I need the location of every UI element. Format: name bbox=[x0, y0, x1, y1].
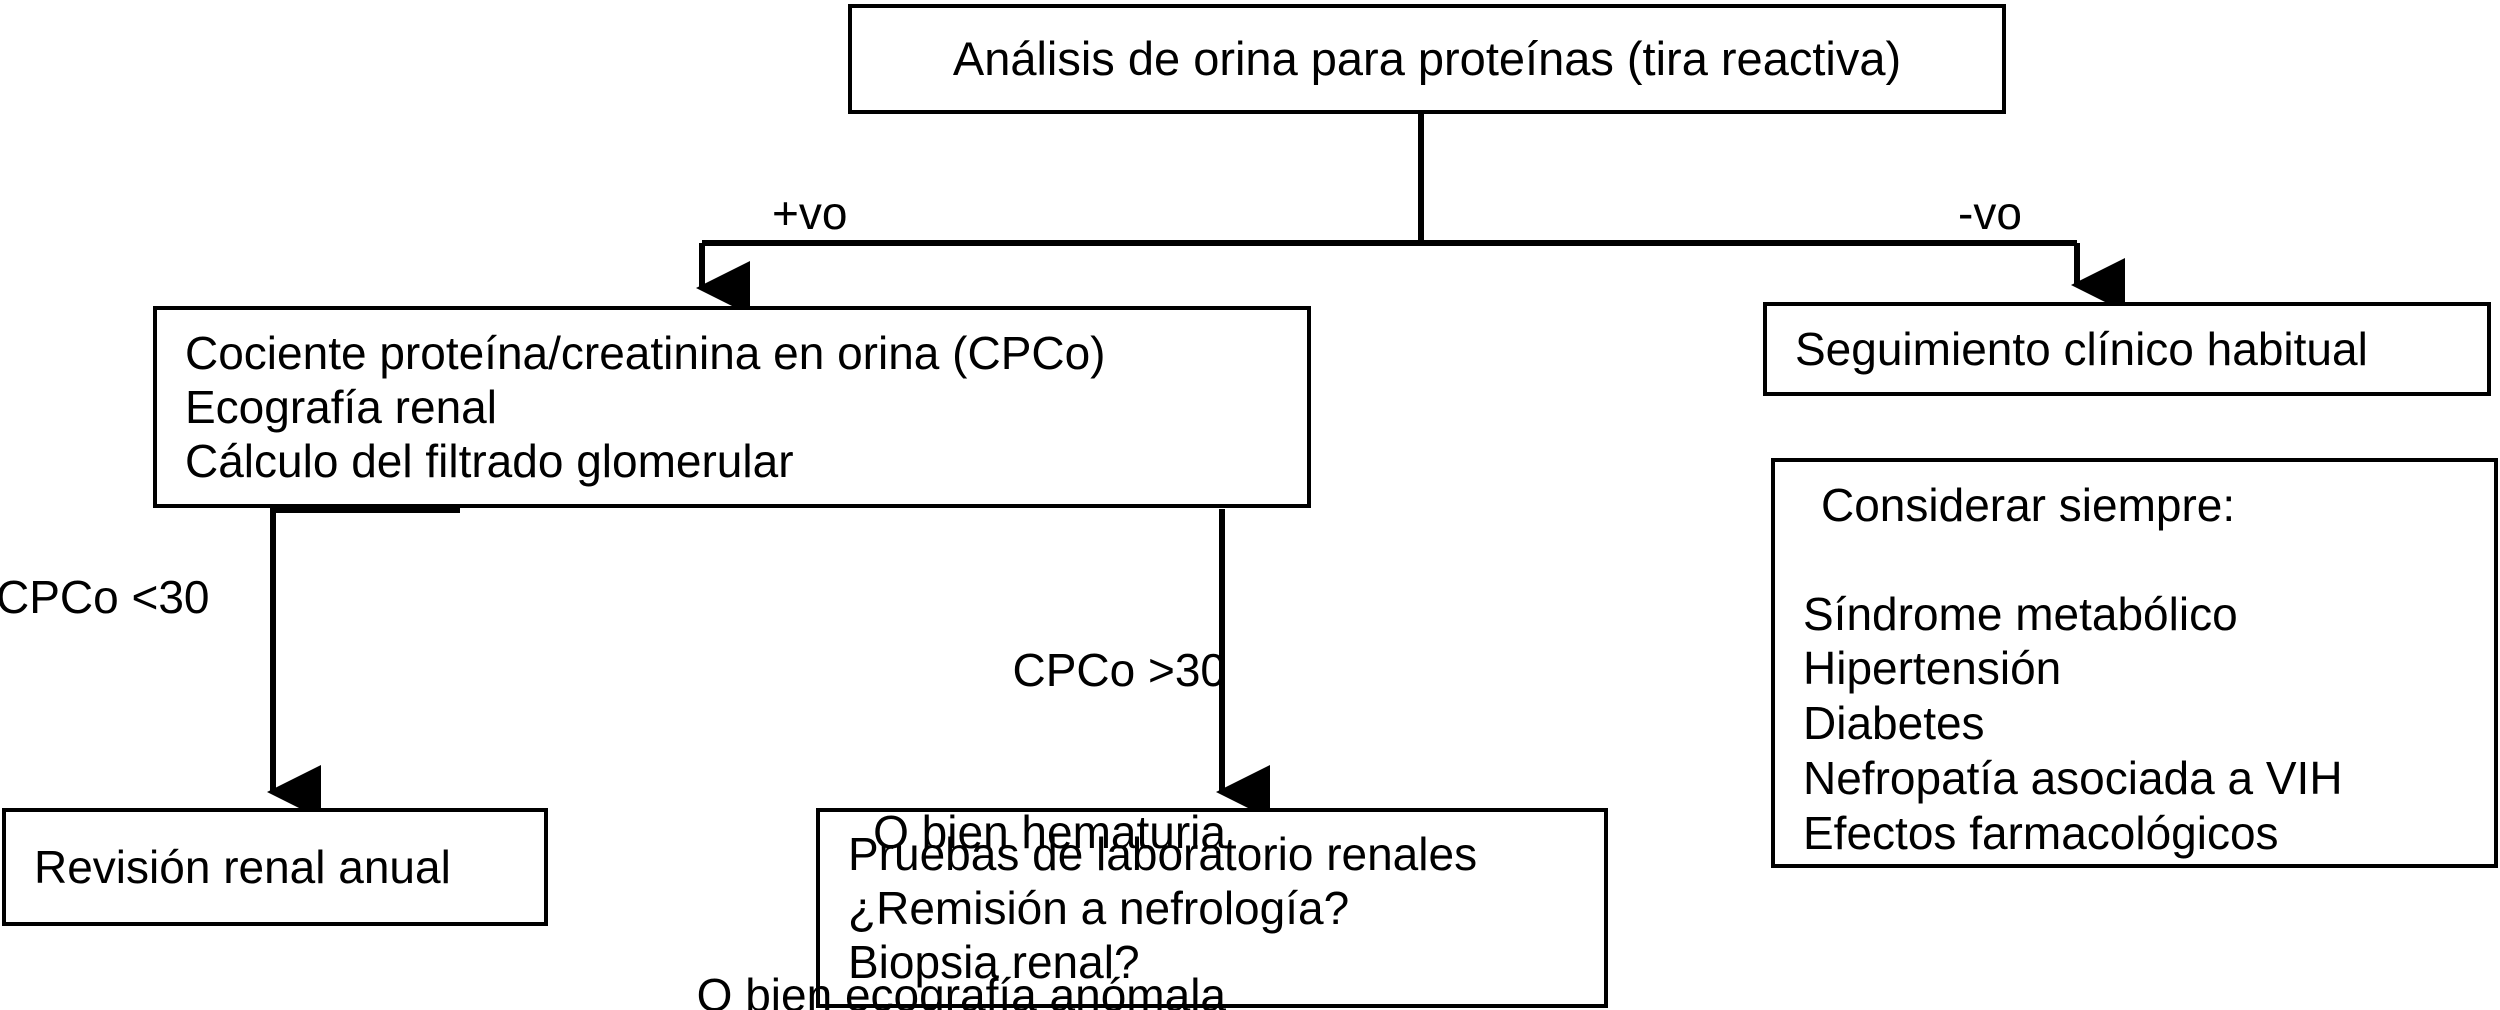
flowchart-canvas: Análisis de orina para proteínas (tira r… bbox=[0, 0, 2500, 1010]
edge-label-cpco-high-line-1: CPCo >30 bbox=[516, 643, 1226, 697]
edge-label-positive: +vo bbox=[772, 186, 847, 240]
node-annual-line-1: Revisión renal anual bbox=[34, 840, 544, 894]
node-consider-item-2: Hipertensión bbox=[1803, 641, 2494, 696]
node-consider-item-3: Diabetes bbox=[1803, 696, 2494, 751]
edge-label-negative: -vo bbox=[1958, 186, 2022, 240]
node-consider-item-5: Efectos farmacológicos bbox=[1803, 806, 2494, 861]
edge-label-cpco-low: CPCo <30 bbox=[0, 570, 210, 624]
edge-label-cpco-high-line-3: O bien ecografía anómala bbox=[516, 968, 1226, 1010]
node-always-consider: Considerar siempre: Síndrome metabólico … bbox=[1771, 458, 2498, 868]
node-urinalysis: Análisis de orina para proteínas (tira r… bbox=[848, 4, 2006, 114]
edge-label-cpco-high: CPCo >30 O bien hematuria O bien ecograf… bbox=[516, 534, 1226, 1010]
node-consider-item-4: Nefropatía asociada a VIH bbox=[1803, 751, 2494, 806]
edge-label-cpco-high-line-2: O bien hematuria bbox=[516, 805, 1226, 859]
node-consider-heading: Considerar siempre: bbox=[1803, 478, 2494, 533]
node-workup-line-3: Cálculo del filtrado glomerular bbox=[185, 434, 1307, 488]
node-followup-line-1: Seguimiento clínico habitual bbox=[1795, 322, 2487, 376]
node-consider-item-1: Síndrome metabólico bbox=[1803, 587, 2494, 642]
node-annual-renal-review: Revisión renal anual bbox=[2, 808, 548, 926]
node-routine-clinical-followup: Seguimiento clínico habitual bbox=[1763, 302, 2491, 396]
node-workup-line-2: Ecografía renal bbox=[185, 380, 1307, 434]
node-urinalysis-line-1: Análisis de orina para proteínas (tira r… bbox=[953, 31, 1901, 86]
node-workup-line-1: Cociente proteína/creatinina en orina (C… bbox=[185, 326, 1307, 380]
node-workup: Cociente proteína/creatinina en orina (C… bbox=[153, 306, 1311, 508]
